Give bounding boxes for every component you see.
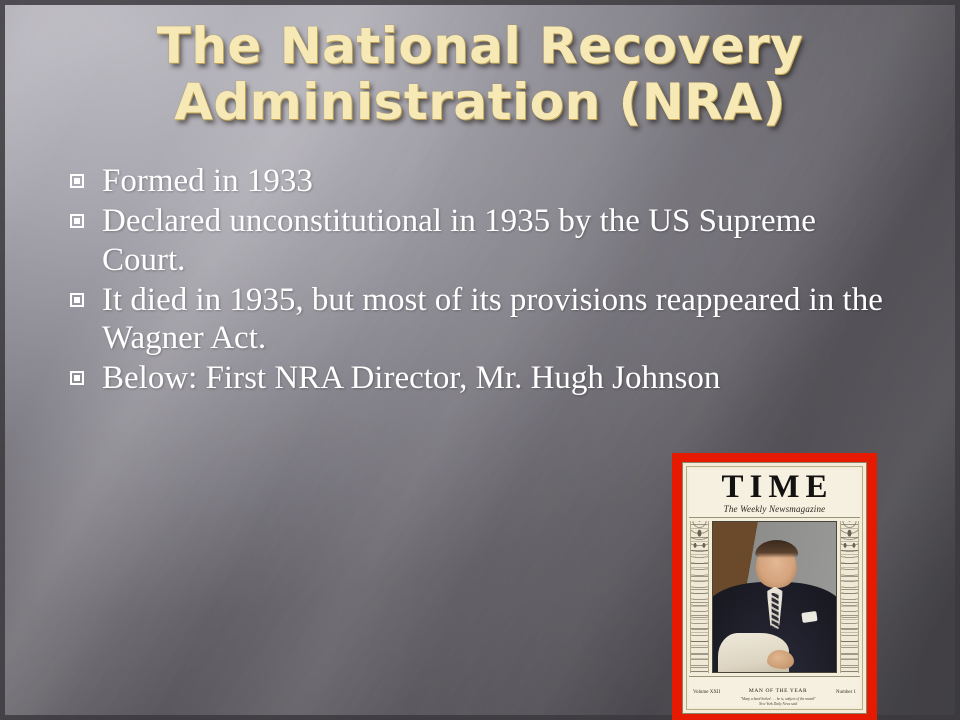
cover-tagline: The Weekly Newsmagazine [689, 504, 860, 515]
list-item: Formed in 1933 [70, 162, 890, 200]
list-item: Below: First NRA Director, Mr. Hugh John… [70, 359, 890, 397]
cover-masthead: TIME The Weekly Newsmagazine [689, 469, 860, 518]
list-item-text: Formed in 1933 [102, 162, 313, 200]
hugh-johnson-portrait [712, 521, 837, 673]
cover-feature-title: MAN OF THE YEAR [749, 688, 807, 694]
portrait-striped-tie [771, 593, 778, 629]
bullet-list: Formed in 1933 Declared unconstitutional… [70, 162, 890, 400]
square-bullet-icon [70, 371, 84, 385]
cover-inner-frame: TIME The Weekly Newsmagazine [682, 462, 867, 714]
time-magazine-cover-image: TIME The Weekly Newsmagazine [672, 453, 877, 720]
cover-inner-frame-2: TIME The Weekly Newsmagazine [686, 466, 863, 710]
cover-volume: Volume XXII [693, 690, 720, 695]
cover-number: Number 1 [836, 690, 856, 695]
ornament-left-icon [690, 521, 709, 673]
list-item-text: Declared unconstitutional in 1935 by the… [102, 202, 890, 279]
square-bullet-icon [70, 214, 84, 228]
cover-feature-quote-2: New York Daily News said [720, 702, 836, 706]
list-item-text: It died in 1935, but most of its provisi… [102, 281, 890, 358]
slide-title: The National Recovery Administration (NR… [40, 18, 920, 130]
list-item: It died in 1935, but most of its provisi… [70, 281, 890, 358]
square-bullet-icon [70, 174, 84, 188]
list-item: Declared unconstitutional in 1935 by the… [70, 202, 890, 279]
time-logo: TIME [689, 471, 860, 503]
list-item-text: Below: First NRA Director, Mr. Hugh John… [102, 359, 720, 397]
cover-footer: Volume XXII MAN OF THE YEAR "Many a hard… [689, 676, 860, 707]
cover-artwork-area [689, 518, 860, 676]
portrait-hair [755, 540, 798, 558]
square-bullet-icon [70, 293, 84, 307]
cover-feature: MAN OF THE YEAR "Many a hard-boiled . . … [720, 679, 836, 706]
ornament-right-icon [840, 521, 859, 673]
presentation-slide: The National Recovery Administration (NR… [0, 0, 960, 720]
